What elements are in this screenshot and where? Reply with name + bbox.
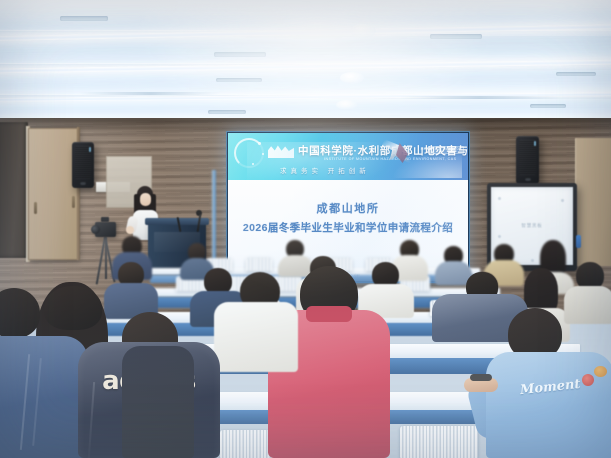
chair[interactable] <box>246 258 272 271</box>
speaker-port <box>80 181 86 185</box>
blue-embroidered-shirt-attendee: Moment <box>486 318 611 458</box>
polo-collar <box>306 306 352 322</box>
presenter-hand <box>126 226 134 234</box>
banner-chip-label: MOUNTAIN HAZARDS <box>421 147 462 151</box>
whiteboard-caption: 智慧黑板 <box>521 223 542 229</box>
whiteboard-dot <box>498 235 501 238</box>
slide-title-line1: 成都山地所 <box>228 200 468 216</box>
banner-sparkle <box>262 153 264 155</box>
tripod-leg <box>105 237 107 279</box>
banner-sparkle <box>258 142 261 145</box>
whiteboard-stylus[interactable] <box>576 235 581 248</box>
flower-embroidery-icon <box>582 374 594 386</box>
whiteboard-dot <box>561 199 564 202</box>
side-door-dark[interactable] <box>0 122 28 258</box>
wall-speaker-right <box>516 136 539 184</box>
attendee-torso <box>214 302 298 372</box>
whiteboard-dot <box>498 197 501 200</box>
chair[interactable] <box>400 426 478 458</box>
ceiling-vent <box>60 16 108 21</box>
door-handle[interactable] <box>72 196 75 208</box>
mountain-logo-icon <box>268 145 294 158</box>
ceiling-vent <box>556 72 596 76</box>
ceiling-vent <box>530 104 566 108</box>
banner-motto: 求真务实 开拓创新 <box>280 165 370 175</box>
slide-banner: 中国科学院·水利部成都山地灾害与环境研究所 INSTITUTE OF MOUNT… <box>228 133 468 180</box>
attendee-torso <box>122 346 194 458</box>
speaker-status-led <box>534 141 536 146</box>
flower-embroidery-icon <box>594 366 607 377</box>
speaker-status-led <box>89 147 91 152</box>
presenter-face <box>140 193 151 206</box>
ceiling-light-bloom <box>130 0 490 132</box>
banner-sparkle <box>252 163 254 165</box>
camera-lens <box>91 225 100 234</box>
lecture-hall-photo: 智慧黑板 中国 <box>0 0 611 458</box>
wrist-watch <box>470 374 492 381</box>
torso-highlight <box>0 336 88 458</box>
wall-speaker-left <box>72 142 94 188</box>
whiteboard-dot <box>531 259 534 262</box>
ceiling <box>0 0 611 132</box>
slide-title-line2: 2026届冬季毕业生毕业和学位申请流程介绍 <box>228 220 468 235</box>
entry-door[interactable] <box>28 128 78 260</box>
speaker-port <box>525 177 531 181</box>
torso-highlight <box>486 352 611 458</box>
denim-torso <box>0 336 88 458</box>
banner-swoosh <box>392 152 462 178</box>
door-handle[interactable] <box>34 202 37 214</box>
blue-shirt-torso <box>486 352 611 458</box>
